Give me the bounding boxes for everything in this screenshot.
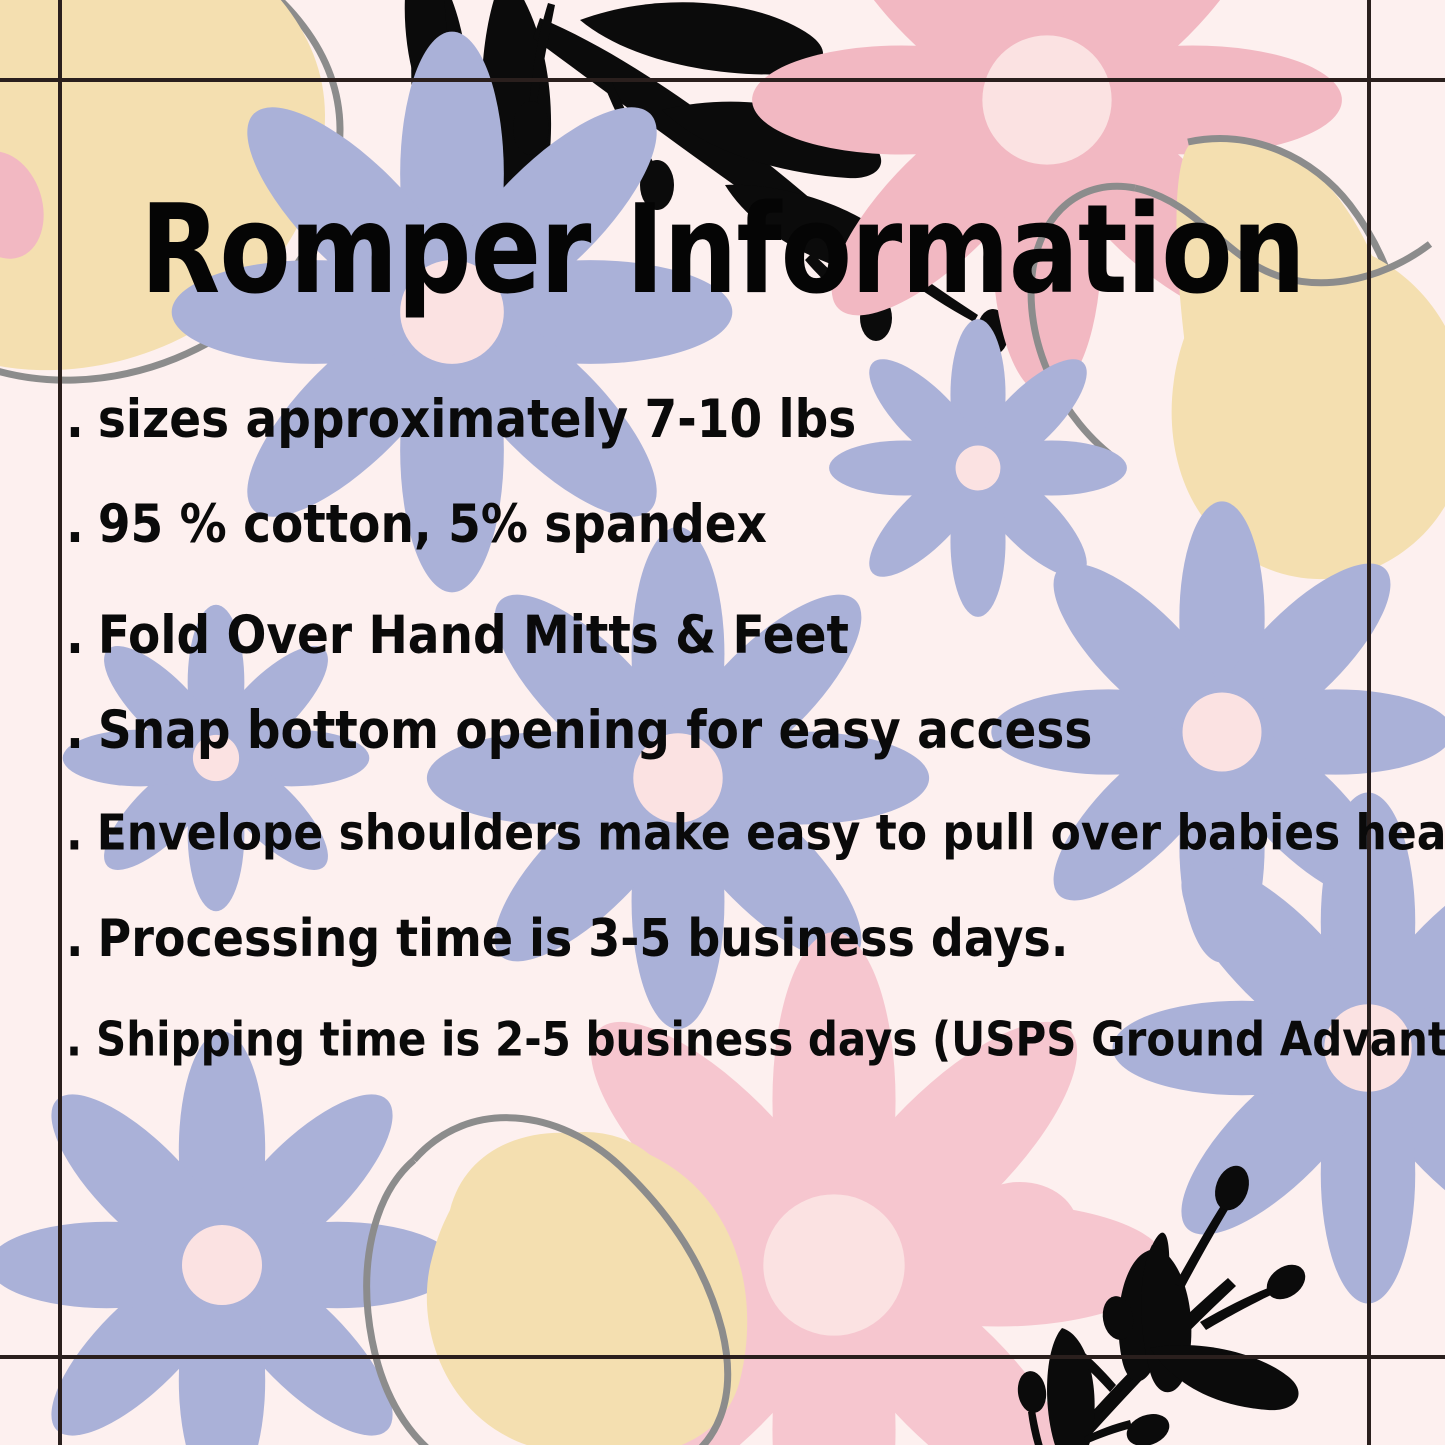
list-item-label: sizes approximately 7-10 lbs [98, 389, 856, 451]
list-item-label: 95 % cotton, 5% spandex [98, 494, 767, 556]
list-item: . Fold Over Hand Mitts & Feet [66, 605, 1426, 667]
list-item-label: Snap bottom opening for easy access [98, 700, 1092, 762]
bullet-marker-icon: . [66, 605, 84, 667]
bullet-marker-icon: . [66, 700, 84, 762]
list-item: . sizes approximately 7-10 lbs [66, 389, 1426, 451]
list-item: . 95 % cotton, 5% spandex [66, 494, 1426, 556]
bullet-marker-icon: . [66, 805, 83, 862]
poster-content: Romper Information . sizes approximately… [0, 0, 1445, 1445]
list-item: . Snap bottom opening for easy access [66, 700, 1426, 762]
list-item: . Envelope shoulders make easy to pull o… [66, 805, 1426, 862]
list-item: . Processing time is 3-5 business days. [66, 908, 1426, 968]
list-item: . Shipping time is 2-5 business days (US… [66, 1012, 1426, 1067]
bullet-marker-icon: . [66, 389, 84, 451]
page-title: Romper Information [0, 186, 1445, 315]
list-item-label: Shipping time is 2-5 business days (USPS… [96, 1012, 1445, 1067]
poster-canvas: Romper Information . sizes approximately… [0, 0, 1445, 1445]
bullet-marker-icon: . [66, 1012, 82, 1067]
bullet-marker-icon: . [66, 908, 83, 968]
list-item-label: Envelope shoulders make easy to pull ove… [97, 805, 1445, 862]
list-item-label: Processing time is 3-5 business days. [97, 908, 1068, 968]
bullet-marker-icon: . [66, 494, 84, 556]
list-item-label: Fold Over Hand Mitts & Feet [98, 605, 849, 667]
info-bullet-list: . sizes approximately 7-10 lbs . 95 % co… [66, 392, 1426, 1064]
